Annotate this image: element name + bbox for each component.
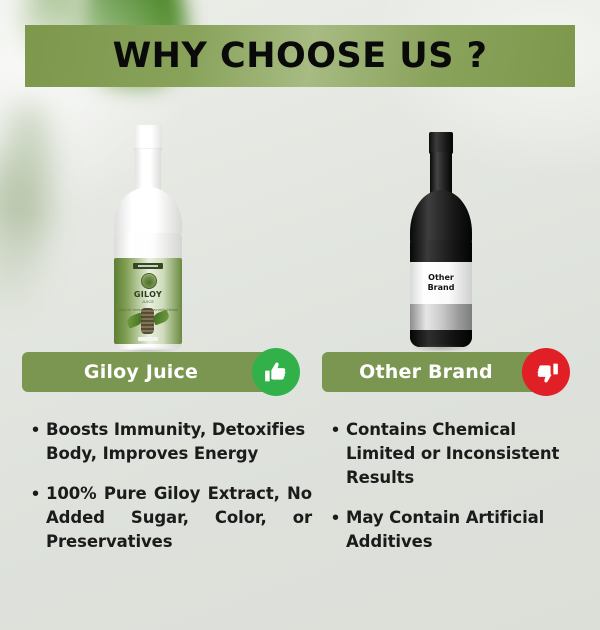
infographic-page: WHY CHOOSE US ? GILOY JUICE Giloy for Im… bbox=[0, 0, 600, 630]
bottle-cap bbox=[429, 132, 453, 154]
thumbs-up-icon bbox=[252, 348, 300, 396]
other-brand-bottle-image: Other Brand bbox=[404, 132, 478, 347]
label-product-name: JUICE bbox=[114, 299, 182, 304]
other-brand-bottle-label: Other Brand bbox=[410, 262, 472, 304]
label-top-banner bbox=[133, 263, 163, 269]
giloy-juice-bottle-image: GILOY JUICE Giloy for Immunity - Ayurved… bbox=[110, 125, 186, 350]
bullet-marker: • bbox=[30, 482, 46, 554]
header-banner: WHY CHOOSE US ? bbox=[25, 25, 575, 87]
list-item: • Contains Chemical Limited or Inconsist… bbox=[330, 418, 588, 490]
list-item: • May Contain Artificial Additives bbox=[330, 506, 588, 554]
other-brand-drawbacks-list: • Contains Chemical Limited or Inconsist… bbox=[330, 418, 588, 570]
giloy-juice-bar-label: Giloy Juice bbox=[22, 361, 280, 383]
bullet-marker: • bbox=[330, 418, 346, 490]
other-brand-title-bar: Other Brand bbox=[322, 352, 550, 392]
giloy-juice-title-bar: Giloy Juice bbox=[22, 352, 280, 392]
bottle-shadow bbox=[412, 344, 470, 352]
list-item: • 100% Pure Giloy Extract, No Added Suga… bbox=[30, 482, 312, 554]
label-herb-illustration bbox=[128, 305, 168, 335]
product-images-row: GILOY JUICE Giloy for Immunity - Ayurved… bbox=[0, 110, 600, 345]
other-brand-bar-label: Other Brand bbox=[322, 361, 550, 383]
page-title: WHY CHOOSE US ? bbox=[113, 36, 488, 76]
bottle-shoulder bbox=[114, 187, 182, 239]
bullet-marker: • bbox=[330, 506, 346, 554]
thumbs-down-icon bbox=[522, 348, 570, 396]
label-emblem-icon bbox=[141, 273, 157, 289]
bullet-marker: • bbox=[30, 418, 46, 466]
bottle-shoulder bbox=[410, 190, 472, 246]
list-item-text: May Contain Artificial Additives bbox=[346, 506, 588, 554]
list-item-text: 100% Pure Giloy Extract, No Added Sugar,… bbox=[46, 482, 312, 554]
giloy-bottle-label: GILOY JUICE Giloy for Immunity - Ayurved… bbox=[114, 258, 182, 344]
label-brand-name: GILOY bbox=[114, 291, 182, 299]
list-item: • Boosts Immunity, Detoxifies Body, Impr… bbox=[30, 418, 312, 466]
bottle-label-line-1: Other bbox=[428, 273, 454, 282]
giloy-juice-benefits-list: • Boosts Immunity, Detoxifies Body, Impr… bbox=[30, 418, 312, 570]
label-bottom-strip bbox=[138, 337, 158, 341]
list-item-text: Boosts Immunity, Detoxifies Body, Improv… bbox=[46, 418, 312, 466]
bottle-cap bbox=[134, 125, 162, 151]
list-item-text: Contains Chemical Limited or Inconsisten… bbox=[346, 418, 588, 490]
bottle-label-text: Other Brand bbox=[428, 273, 455, 293]
bottle-label-line-2: Brand bbox=[428, 283, 455, 292]
